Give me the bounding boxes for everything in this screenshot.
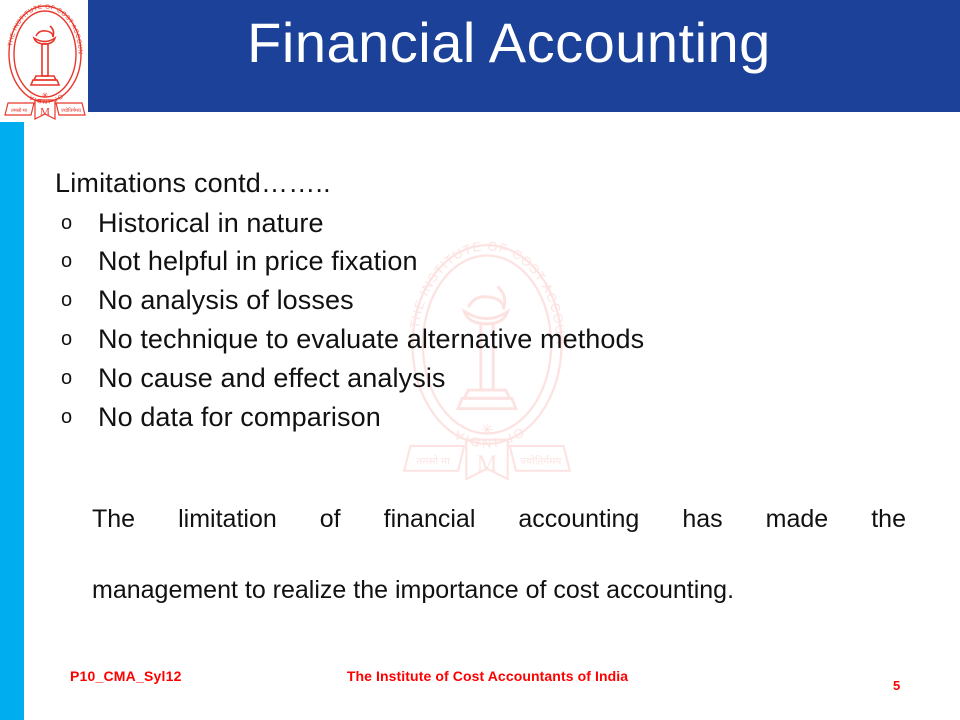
- slide-body: Limitations contd…….. o Historical in na…: [55, 166, 915, 437]
- bullet-circle-icon: o: [61, 242, 72, 281]
- list-item-label: Historical in nature: [98, 208, 324, 238]
- list-item: o No cause and effect analysis: [55, 359, 915, 398]
- bullet-circle-icon: o: [61, 204, 72, 243]
- slide-header-bar: Financial Accounting: [88, 0, 960, 112]
- limitations-heading: Limitations contd……..: [55, 166, 915, 201]
- institute-logo: THE INSTITUTE OF COST ACCOUNTANTS OF IND…: [2, 2, 88, 120]
- bullet-circle-icon: o: [61, 359, 72, 398]
- list-item-label: No cause and effect analysis: [98, 363, 446, 393]
- list-item-label: No data for comparison: [98, 402, 381, 432]
- svg-text:तमसो मा: तमसो मा: [11, 107, 28, 114]
- svg-text:M: M: [477, 451, 497, 476]
- svg-text:ज्योतिर्गमय: ज्योतिर्गमय: [61, 107, 81, 114]
- svg-text:M: M: [40, 106, 50, 118]
- svg-text:✳: ✳: [42, 91, 49, 100]
- list-item: o Historical in nature: [55, 204, 915, 243]
- list-item: o Not helpful in price fixation: [55, 242, 915, 281]
- bullet-circle-icon: o: [61, 320, 72, 359]
- left-accent-strip: [0, 122, 24, 720]
- list-item-label: Not helpful in price fixation: [98, 246, 418, 276]
- page-number: 5: [893, 678, 900, 693]
- footer-institute-name: The Institute of Cost Accountants of Ind…: [0, 668, 960, 684]
- bullet-circle-icon: o: [61, 281, 72, 320]
- list-item: o No technique to evaluate alternative m…: [55, 320, 915, 359]
- summary-line-2: management to realize the importance of …: [92, 573, 906, 609]
- list-item-label: No technique to evaluate alternative met…: [98, 324, 644, 354]
- slide-title: Financial Accounting: [88, 14, 930, 73]
- bullet-circle-icon: o: [61, 398, 72, 437]
- list-item: o No data for comparison: [55, 398, 915, 437]
- summary-line-1: The limitation of financial accounting h…: [92, 502, 906, 573]
- svg-text:ज्योतिर्गमय: ज्योतिर्गमय: [520, 455, 562, 468]
- list-item-label: No analysis of losses: [98, 285, 354, 315]
- svg-text:तमसो मा: तमसो मा: [416, 455, 450, 468]
- summary-paragraph: The limitation of financial accounting h…: [92, 502, 906, 609]
- presentation-slide: THE INSTITUTE OF COST ACCOUNTANTS OF IND…: [0, 0, 960, 720]
- list-item: o No analysis of losses: [55, 281, 915, 320]
- limitations-list: o Historical in nature o Not helpful in …: [55, 204, 915, 437]
